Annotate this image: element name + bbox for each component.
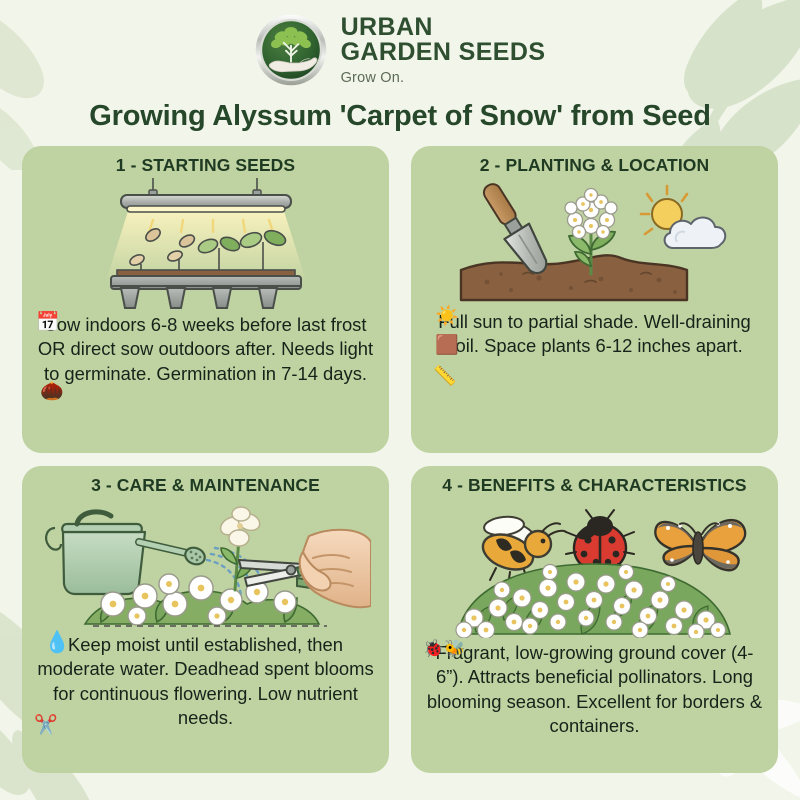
card-starting-seeds: 1 - STARTING SEEDS xyxy=(22,146,389,453)
seed-icon: 🌰 xyxy=(40,382,64,401)
sun-icon: ☀️ xyxy=(435,307,459,326)
card-body: 💧 ✂️ Keep moist until established, then … xyxy=(30,630,381,765)
tree-in-hand-logo-icon xyxy=(255,14,327,86)
seed-tray-under-grow-light-icon xyxy=(91,178,321,310)
watering-can-and-pruning-hand-icon xyxy=(41,498,371,630)
card-title: 4 - BENEFITS & CHARACTERISTICS xyxy=(419,475,770,496)
card-body-text: Full sun to partial shade. Well-draining… xyxy=(419,310,770,359)
card-title: 3 - CARE & MAINTENANCE xyxy=(30,475,381,496)
card-body: ☀️ 🟫 📏 Full sun to partial shade. Well-d… xyxy=(419,306,770,445)
card-title: 2 - PLANTING & LOCATION xyxy=(419,155,770,176)
brand-text: URBAN GARDEN SEEDS Grow On. xyxy=(341,15,546,86)
steps-grid: 1 - STARTING SEEDS xyxy=(22,146,778,773)
brand-line-2: GARDEN SEEDS xyxy=(341,40,546,65)
brand-row: URBAN GARDEN SEEDS Grow On. xyxy=(0,11,800,89)
page-title: Growing Alyssum 'Carpet of Snow' from Se… xyxy=(0,100,800,133)
brand-name: URBAN GARDEN SEEDS xyxy=(341,15,546,65)
infographic-page: URBAN GARDEN SEEDS Grow On. Growing Alys… xyxy=(0,0,800,800)
card-illustration xyxy=(30,498,381,630)
pollinators-over-flower-mound-icon xyxy=(430,498,760,638)
brand-line-1: URBAN xyxy=(341,13,433,41)
pollinators-icon: 🐞🐝 xyxy=(423,640,465,657)
card-illustration xyxy=(419,498,770,638)
soil-block-icon: 🟫 xyxy=(435,336,459,355)
card-body: 📅 🌰 Sow indoors 6-8 weeks before last fr… xyxy=(30,310,381,445)
ruler-spacing-icon: 📏 xyxy=(433,367,457,386)
card-body-text: Sow indoors 6-8 weeks before last frost … xyxy=(30,313,381,386)
water-drop-icon: 💧 xyxy=(44,632,70,653)
calendar-icon: 📅 xyxy=(36,313,60,332)
pruning-shears-icon: ✂️ xyxy=(34,716,58,735)
card-benefits-characteristics: 4 - BENEFITS & CHARACTERISTICS xyxy=(411,466,778,773)
card-title: 1 - STARTING SEEDS xyxy=(30,155,381,176)
card-body-text: Keep moist until established, then moder… xyxy=(30,633,381,731)
card-body: 🐞🐝 Fragrant, low-growing ground cover (4… xyxy=(419,638,770,765)
header: URBAN GARDEN SEEDS Grow On. Growing Alys… xyxy=(0,0,800,133)
card-illustration xyxy=(30,178,381,310)
trowel-flower-soil-sun-cloud-icon xyxy=(435,178,755,306)
card-illustration xyxy=(419,178,770,306)
card-body-text: Fragrant, low-growing ground cover (4-6”… xyxy=(419,641,770,739)
card-care-maintenance: 3 - CARE & MAINTENANCE xyxy=(22,466,389,773)
brand-tagline: Grow On. xyxy=(341,71,546,86)
card-planting-location: 2 - PLANTING & LOCATION xyxy=(411,146,778,453)
